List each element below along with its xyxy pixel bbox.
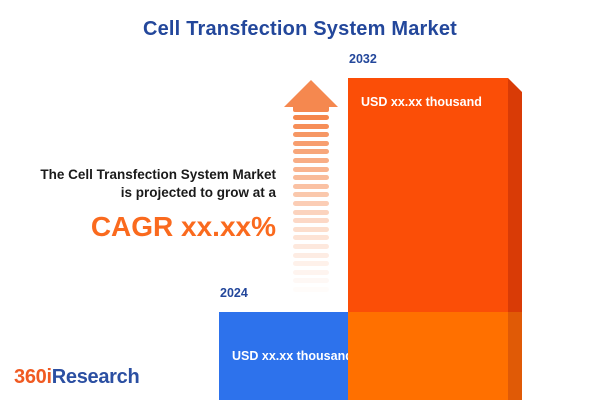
- up-arrow-stripe: [293, 115, 329, 120]
- up-arrow-stripe: [293, 295, 329, 300]
- up-arrow-stripe: [293, 210, 329, 215]
- bar-2024-value-label: USD xx.xx thousand: [232, 349, 353, 363]
- up-arrow-stripe: [293, 192, 329, 197]
- bar-2024-year-label: 2024: [220, 286, 248, 300]
- brand-logo-360i: 360i: [14, 366, 52, 388]
- bar-2032-front-face-lower: [348, 312, 508, 400]
- up-arrow-stripe: [293, 227, 329, 232]
- up-arrow-stripe: [293, 158, 329, 163]
- market-infographic: Cell Transfection System Market The Cell…: [0, 0, 600, 400]
- up-arrow-stripe: [293, 167, 329, 172]
- up-arrow-stripe: [293, 175, 329, 180]
- up-arrow-stripe: [293, 270, 329, 275]
- bar-2032-side-face-lower: [508, 312, 522, 400]
- statement-line-2: is projected to grow at a: [8, 184, 276, 202]
- statement-line-1: The Cell Transfection System Market: [8, 166, 276, 184]
- up-arrow-stripe: [293, 218, 329, 223]
- up-arrow-stripe: [293, 244, 329, 249]
- up-arrow-stripe: [293, 235, 329, 240]
- brand-logo-research: Research: [52, 366, 140, 388]
- page-title: Cell Transfection System Market: [0, 18, 600, 41]
- up-arrow-stripe: [293, 278, 329, 283]
- bar-2032-year-label: 2032: [349, 52, 377, 66]
- bar-2032-side-face-upper: [508, 78, 522, 312]
- up-arrow-stripe: [293, 184, 329, 189]
- up-arrow-shaft: [293, 115, 329, 305]
- bar-2032-value-label: USD xx.xx thousand: [361, 95, 482, 109]
- up-arrow-stripe: [293, 253, 329, 258]
- cagr-value: CAGR xx.xx%: [8, 211, 276, 243]
- up-arrow-stripe: [293, 141, 329, 146]
- up-arrow-icon: [284, 80, 338, 305]
- brand-logo: 360iResearch: [14, 366, 139, 389]
- up-arrow-stripe: [293, 132, 329, 137]
- growth-statement: The Cell Transfection System Market is p…: [8, 166, 276, 243]
- bar-2032-front-face-upper: [348, 78, 508, 312]
- up-arrow-stripe: [293, 124, 329, 129]
- up-arrow-neck: [293, 104, 329, 112]
- up-arrow-stripe: [293, 287, 329, 292]
- up-arrow-stripe: [293, 261, 329, 266]
- up-arrow-stripe: [293, 201, 329, 206]
- up-arrow-stripe: [293, 149, 329, 154]
